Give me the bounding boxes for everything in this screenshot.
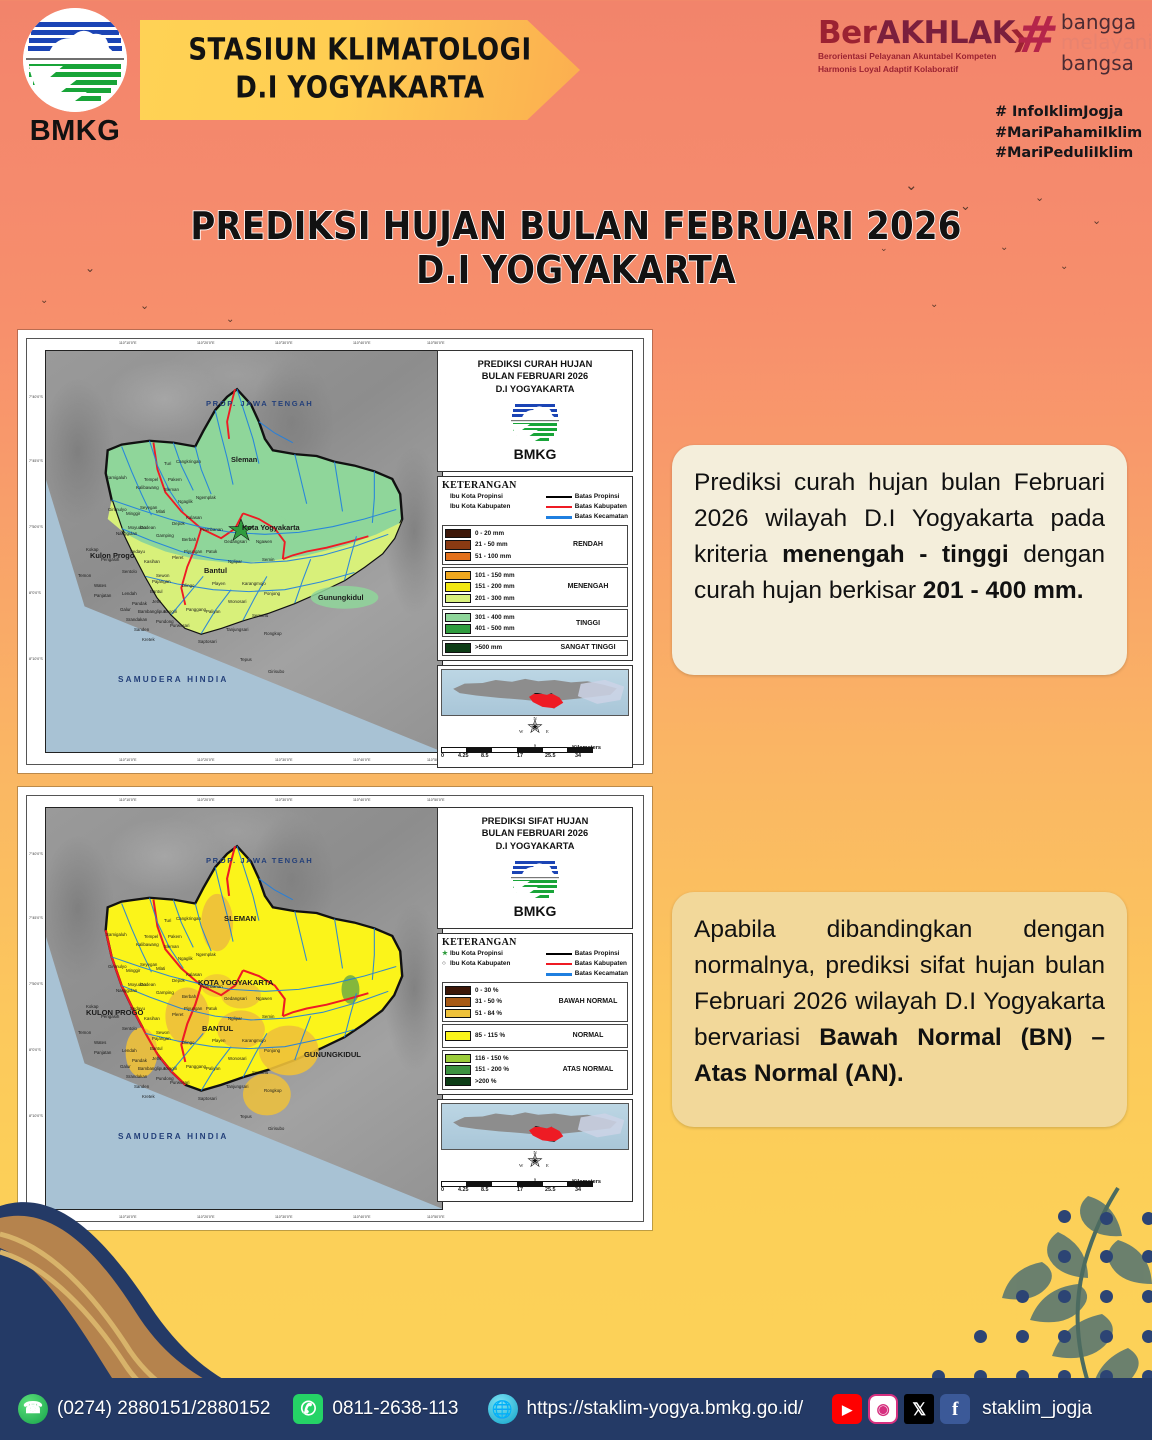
page-title-line-1: PREDIKSI HUJAN BULAN FEBRUARI 2026 [0,203,1152,252]
legend-row: 401 - 500 mm [445,623,551,635]
map2-legend-group-bawah-normal: 0 - 30 % 31 - 50 % 51 - 84 % BAWAH NORMA… [442,982,628,1022]
hashtag-list: # InfoIklimJogja #MariPahamiIklim #MariP… [995,102,1142,164]
berakhlak-prefix: Ber [818,15,876,51]
footer-social-handle: staklim_jogja [982,1398,1092,1420]
map-card-sifat-hujan[interactable]: 110°10'0"E 110°20'0"E 110°30'0"E 110°40'… [18,787,652,1230]
map2-ocean-label: SAMUDERA HINDIA [118,1132,228,1141]
legend-row: 51 - 100 mm [445,551,551,563]
legend-row: 151 - 200 mm [445,581,551,593]
legend-row: 151 - 200 % [445,1064,551,1076]
map2-title-line-3: D.I YOGYAKARTA [442,840,628,852]
map1-boundary-province: Batas Propinsi [546,492,628,502]
instagram-icon[interactable]: ◉ [868,1394,898,1424]
legend-row: >500 mm [445,642,551,654]
bmkg-wordmark: BMKG [20,115,130,148]
page-header: BMKG STASIUN KLIMATOLOGI D.I YOGYAKARTA … [0,0,1152,185]
legend-row: 21 - 50 mm [445,539,551,551]
map2-boundary-province: Batas Propinsi [546,949,628,959]
map2-inset-panel: N W E S ✭ 0 4.25 8.5 17 25.5 34 Kilo [437,1099,633,1202]
banner-line-2: D.I YOGYAKARTA [140,66,580,110]
legend-row: 101 - 150 mm [445,570,551,582]
map1-capital-regency: Ibu Kota Kabupaten [442,502,510,512]
bird-decor-icon: ⌄ [930,300,938,310]
scale-unit-label: Kilometers [572,745,601,751]
legend-row: 85 - 115 % [445,1030,551,1042]
map2-locator-inset [441,1103,629,1150]
map2-legend: KETERANGAN ★Ibu Kota Propinsi ○Ibu Kota … [437,933,633,1095]
legend-row: >200 % [445,1076,551,1088]
map2-bmkg-logo-icon: BMKG [509,857,561,921]
bangga-melayani-bangsa-logo: # bangga melayani bangsa [1015,12,1152,73]
hashtag-item: #MariPahamiIklim [995,123,1142,144]
footer-whatsapp[interactable]: ✆ 0811-2638-113 [293,1394,458,1424]
map2-legend-group-atas-normal: 116 - 150 % 151 - 200 % >200 % ATAS NORM… [442,1050,628,1090]
callout1-bold-2: 201 - 400 mm. [923,577,1084,604]
map1-neighbor-province-label: PROP. JAWA TENGAH [206,399,313,408]
footer-phone-text: (0274) 2880151/2880152 [57,1398,270,1420]
bangga-word-3: bangsa [1061,53,1152,73]
scale-unit-label: Kilometers [572,1179,601,1185]
map2-title-box: PREDIKSI SIFAT HUJAN BULAN FEBRUARI 2026… [437,807,633,929]
map1-title-line-1: PREDIKSI CURAH HUJAN [442,358,628,370]
map1-ocean-label: SAMUDERA HINDIA [118,675,228,684]
map1-inset-panel: N W E S ✭ 0 4.25 8.5 17 25.5 34 Kilo [437,665,633,768]
map2-canvas[interactable]: PROP. JAWA TENGAH SAMUDERA HINDIA SLEMAN… [45,807,443,1210]
footer-website[interactable]: 🌐 https://staklim-yogya.bmkg.go.id/ [488,1394,804,1424]
map1-legend-group-rendah: 0 - 20 mm 21 - 50 mm 51 - 100 mm RENDAH [442,525,628,565]
map1-bmkg-wordmark: BMKG [509,445,561,463]
bmkg-emblem-icon [23,8,127,112]
compass-rose-icon: N W E S ✭ [441,718,629,746]
map1-legend-group-menengah: 101 - 150 mm 151 - 200 mm 201 - 300 mm M… [442,567,628,607]
map1-legend-group-tinggi: 301 - 400 mm 401 - 500 mm TINGGI [442,609,628,637]
map1-canvas[interactable]: PROP. JAWA TENGAH SAMUDERA HINDIA Sleman… [45,350,443,753]
map1-locator-inset [441,669,629,716]
hashtag-item: # InfoIklimJogja [995,102,1142,123]
legend-row: 0 - 20 mm [445,528,551,540]
map2-title-line-1: PREDIKSI SIFAT HUJAN [442,815,628,827]
footer-website-text: https://staklim-yogya.bmkg.go.id/ [527,1398,804,1420]
map1-scale-bar: 0 4.25 8.5 17 25.5 34 Kilometers [441,747,629,764]
map1-legend: KETERANGAN Ibu Kota Propinsi Ibu Kota Ka… [437,476,633,662]
map1-kabupaten-label: Kota Yogyakarta [242,523,300,532]
page-title-line-2: D.I YOGYAKARTA [0,247,1152,296]
map1-boundary-regency: Batas Kabupaten [546,502,628,512]
map1-title-line-3: D.I YOGYAKARTA [442,383,628,395]
callout1-bold-1: menengah - tinggi [782,541,1009,568]
youtube-icon[interactable]: ▶ [832,1394,862,1424]
contact-footer: ☎ (0274) 2880151/2880152 ✆ 0811-2638-113… [0,1378,1152,1440]
callout-curah-hujan: Prediksi curah hujan bulan Februari 2026… [672,445,1127,675]
bird-decor-icon: ⌄ [226,315,234,325]
map2-kabupaten-label: BANTUL [202,1024,233,1033]
whatsapp-icon: ✆ [293,1394,323,1424]
map2-frame: 110°10'0"E 110°20'0"E 110°30'0"E 110°40'… [26,795,644,1222]
station-banner: STASIUN KLIMATOLOGI D.I YOGYAKARTA [140,20,580,120]
legend-row: 301 - 400 mm [445,612,551,624]
map1-title-box: PREDIKSI CURAH HUJAN BULAN FEBRUARI 2026… [437,350,633,472]
legend-row: 0 - 30 % [445,985,551,997]
bmkg-logo: BMKG [20,8,130,148]
compass-rose-icon: N W E S ✭ [441,1152,629,1180]
x-icon[interactable]: 𝕏 [904,1394,934,1424]
map2-legend-heading: KETERANGAN [442,937,628,948]
map2-side-panel: PREDIKSI SIFAT HUJAN BULAN FEBRUARI 2026… [437,807,633,1210]
legend-row: 31 - 50 % [445,996,551,1008]
map2-legend-group-normal: 85 - 115 % NORMAL [442,1024,628,1048]
bangga-word-1: bangga [1061,12,1152,32]
map1-kabupaten-label: Sleman [231,455,257,464]
map1-title-line-2: BULAN FEBRUARI 2026 [442,370,628,382]
legend-row: 116 - 150 % [445,1053,551,1065]
map1-capital-province: Ibu Kota Propinsi [442,492,510,502]
berakhlak-wordmark: BerAKHLAK [818,18,1028,49]
footer-whatsapp-text: 0811-2638-113 [332,1398,458,1420]
footer-social[interactable]: ▶ ◉ 𝕏 f staklim_jogja [832,1394,1092,1424]
bird-decor-icon: ⌄ [40,296,48,306]
map2-boundary-regency: Batas Kabupaten [546,959,628,969]
bangga-word-2: melayani [1061,32,1152,52]
facebook-icon[interactable]: f [940,1394,970,1424]
map2-title-line-2: BULAN FEBRUARI 2026 [442,827,628,839]
map1-side-panel: PREDIKSI CURAH HUJAN BULAN FEBRUARI 2026… [437,350,633,753]
berakhlak-tagline-2: Harmonis Loyal Adaptif Kolaboratif [818,64,1028,75]
map-card-curah-hujan[interactable]: 110°10'0"E 110°20'0"E 110°30'0"E 110°40'… [18,330,652,773]
map1-bmkg-logo-icon: BMKG [509,400,561,464]
map2-capital-province: ★Ibu Kota Propinsi [442,949,510,959]
legend-row: 51 - 84 % [445,1008,551,1020]
map1-kabupaten-label: Bantul [204,566,227,575]
map2-bmkg-wordmark: BMKG [509,902,561,920]
map1-boundary-district: Batas Kecamatan [546,512,628,522]
berakhlak-logo: BerAKHLAK ❯ Berorientasi Pelayanan Akunt… [818,18,1028,75]
map2-scale-bar: 0 4.25 8.5 17 25.5 34 Kilometers [441,1181,629,1198]
legend-row: 201 - 300 mm [445,593,551,605]
page-title: PREDIKSI HUJAN BULAN FEBRUARI 2026 D.I Y… [0,206,1152,293]
map1-kabupaten-label: Gunungkidul [318,593,364,602]
map2-neighbor-province-label: PROP. JAWA TENGAH [206,856,313,865]
decor-waves-left [0,1176,340,1396]
map1-frame: 110°10'0"E 110°20'0"E 110°30'0"E 110°40'… [26,338,644,765]
bird-decor-icon: ⌄ [1035,192,1044,203]
berakhlak-suffix: AKHLAK [876,15,1015,51]
phone-icon: ☎ [18,1394,48,1424]
map2-kabupaten-label: SLEMAN [224,914,256,923]
callout-sifat-hujan: Apabila dibandingkan dengan normalnya, p… [672,892,1127,1127]
hash-icon: # [1011,12,1062,73]
footer-phone[interactable]: ☎ (0274) 2880151/2880152 [18,1394,270,1424]
map1-legend-heading: KETERANGAN [442,480,628,491]
berakhlak-tagline-1: Berorientasi Pelayanan Akuntabel Kompete… [818,51,1028,62]
map2-capital-regency: ○Ibu Kota Kabupaten [442,959,510,969]
map1-legend-group-sangat-tinggi: >500 mm SANGAT TINGGI [442,640,628,657]
globe-icon: 🌐 [488,1394,518,1424]
map2-kabupaten-label: GUNUNGKIDUL [304,1050,361,1059]
hashtag-item: #MariPeduliIklim [995,143,1142,164]
map2-boundary-district: Batas Kecamatan [546,969,628,979]
decor-dot-grid [902,1210,1152,1400]
bird-decor-icon: ⌄ [140,300,149,311]
